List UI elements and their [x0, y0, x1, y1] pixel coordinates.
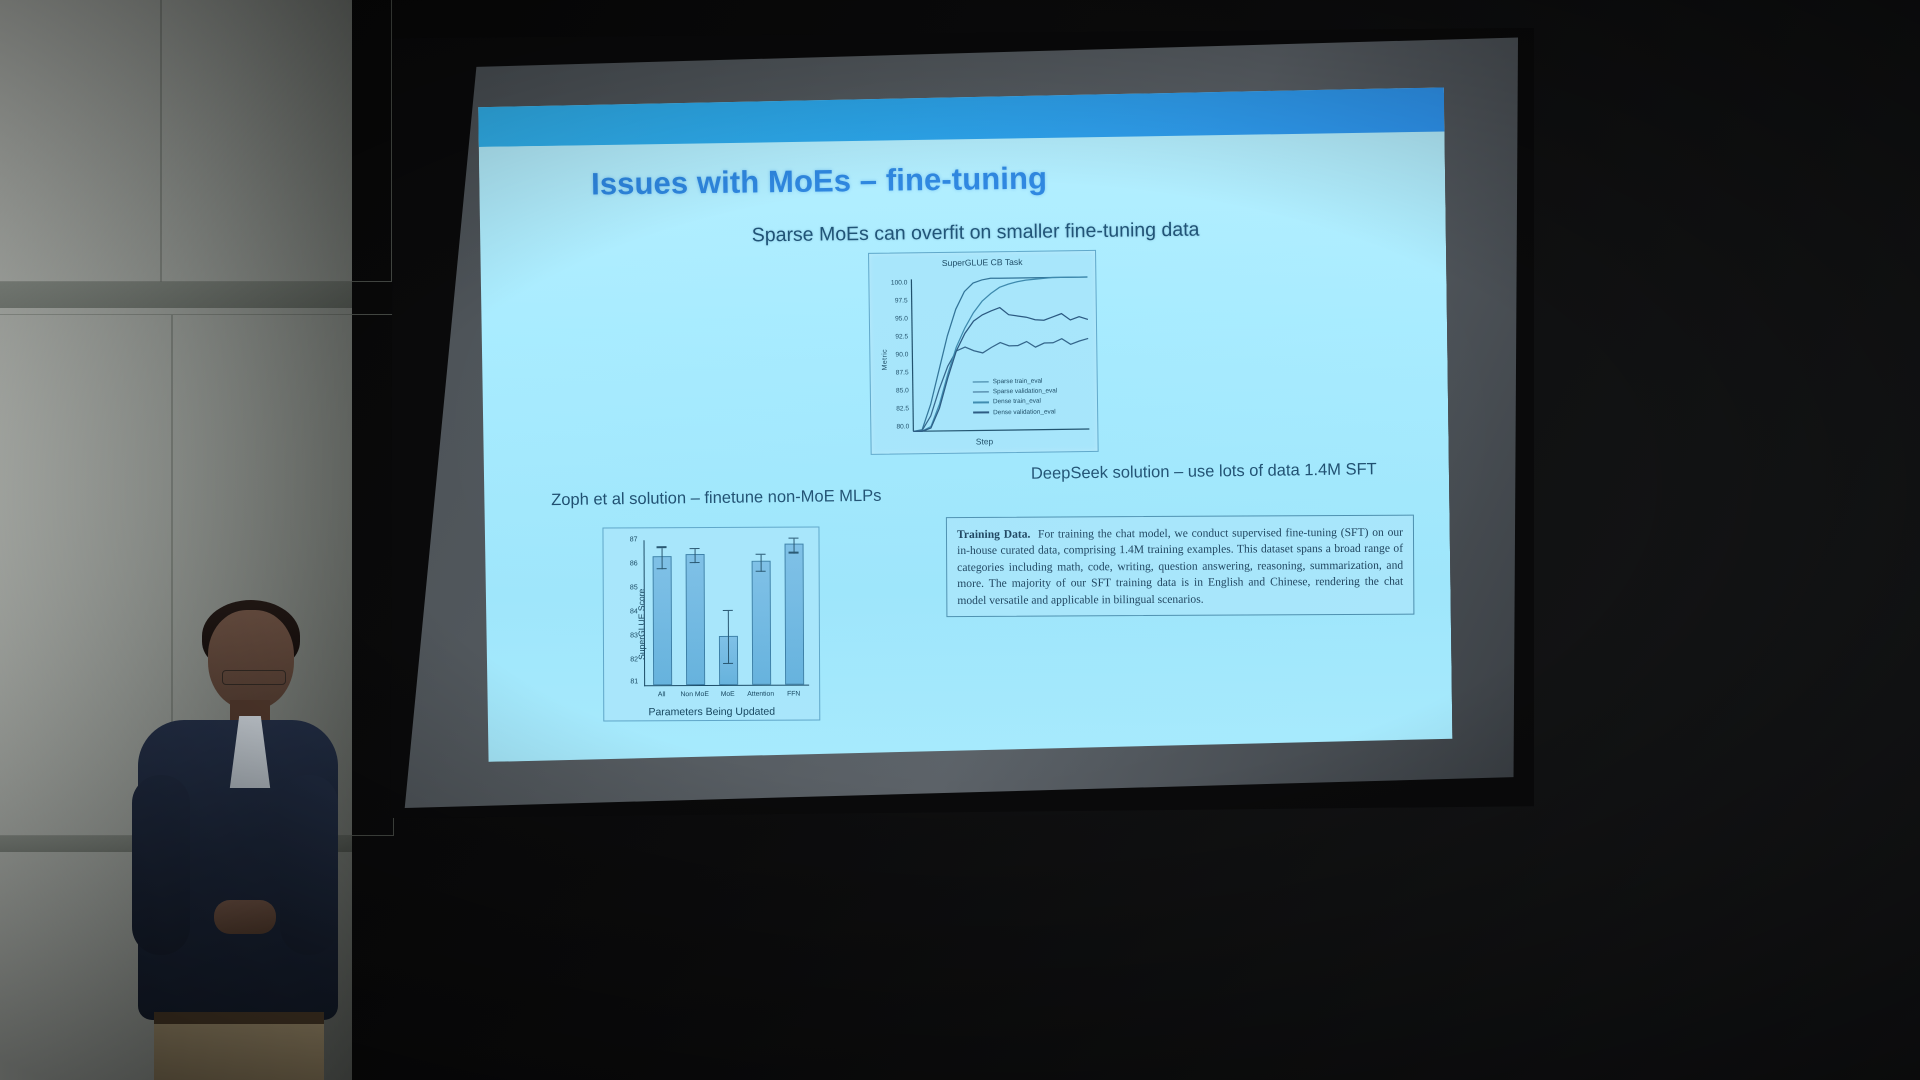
bar-ytick-83: 83	[616, 632, 638, 639]
presenter-head	[208, 610, 294, 710]
bar-chart-plot-area: AllNon MoEMoEAttentionFFN	[644, 540, 810, 687]
slide-subtitle: Sparse MoEs can overfit on smaller fine-…	[752, 219, 1200, 248]
presenter	[130, 600, 345, 1080]
error-bar-2	[727, 611, 728, 665]
line-ytick-82_5: 82.5	[883, 405, 909, 412]
bar-attention	[752, 561, 772, 685]
bar-chart-figure: SuperGLUE Score Parameters Being Updated…	[602, 527, 820, 722]
bar-xtick-4: FFN	[774, 691, 814, 698]
bar-ytick-85: 85	[616, 584, 638, 591]
line-ytick-97_5: 97.5	[882, 297, 908, 304]
bar-ytick-82: 82	[616, 656, 638, 663]
error-bar-0	[661, 548, 662, 570]
caption-zoph-solution: Zoph et al solution – finetune non-MoE M…	[551, 487, 881, 510]
training-data-lead: Training Data.	[957, 528, 1031, 541]
presenter-pants	[154, 1024, 324, 1080]
legend-label-sparse-val: Sparse validation_eval	[993, 388, 1057, 396]
error-cap-3-0	[755, 570, 765, 571]
presenter-arm-left	[132, 775, 190, 955]
legend-label-dense-val: Dense validation_eval	[993, 408, 1056, 416]
line-ytick-87_5: 87.5	[883, 369, 909, 376]
legend-label-dense-train: Dense train_eval	[993, 398, 1041, 406]
error-bar-3	[760, 555, 761, 572]
line-chart-title: SuperGLUE CB Task	[869, 256, 1095, 269]
legend-item-sparse-train: Sparse train_eval	[973, 377, 1057, 385]
bar-ffn	[784, 544, 804, 685]
bar-ytick-86: 86	[616, 560, 638, 567]
legend-item-dense-val: Dense validation_eval	[973, 408, 1057, 416]
legend-item-dense-train: Dense train_eval	[973, 398, 1057, 406]
bar-all	[652, 557, 672, 686]
legend-swatch-sparse-train	[973, 381, 989, 383]
presenter-hands	[214, 900, 276, 934]
error-cap-0-0	[656, 568, 666, 569]
error-cap-4-0	[788, 552, 798, 553]
legend-swatch-dense-train	[973, 401, 989, 403]
line-chart-plot-area: Metric Step 100.0 97.5 95.0 92.5 90.0 87…	[875, 269, 1091, 448]
training-data-box: Training Data. For training the chat mod…	[946, 515, 1415, 617]
line-ytick-90: 90.0	[882, 351, 908, 358]
presentation-slide: Issues with MoEs – fine-tuning Sparse Mo…	[478, 87, 1453, 762]
caption-deepseek-solution: DeepSeek solution – use lots of data 1.4…	[1031, 460, 1377, 484]
error-cap-0-1	[656, 547, 666, 548]
bar-ytick-84: 84	[616, 608, 638, 615]
presenter-glasses	[222, 670, 286, 685]
error-cap-4-1	[788, 537, 798, 538]
legend-label-sparse-train: Sparse train_eval	[993, 378, 1043, 386]
error-cap-1-0	[689, 562, 699, 563]
error-cap-3-1	[755, 553, 765, 554]
line-chart-legend: Sparse train_eval Sparse validation_eval…	[973, 377, 1058, 419]
screenshot-stage: Issues with MoEs – fine-tuning Sparse Mo…	[0, 0, 1920, 1080]
legend-swatch-sparse-val	[973, 391, 989, 393]
bar-chart-xlabel: Parameters Being Updated	[604, 706, 819, 719]
legend-swatch-dense-val	[973, 412, 989, 414]
line-ytick-95: 95.0	[882, 315, 908, 322]
bar-ytick-81: 81	[616, 678, 638, 685]
presenter-arm-right	[280, 775, 338, 955]
bar-ytick-87: 87	[615, 536, 637, 543]
line-ytick-85: 85.0	[883, 387, 909, 394]
bar-non-moe	[685, 554, 705, 685]
line-ytick-92_5: 92.5	[882, 333, 908, 340]
error-cap-2-1	[722, 610, 732, 611]
line-chart-figure: SuperGLUE CB Task Metric Step 100.0 97.5…	[868, 250, 1099, 455]
line-ytick-80: 80.0	[883, 423, 909, 430]
error-cap-2-0	[723, 663, 733, 664]
slide-title: Issues with MoEs – fine-tuning	[591, 161, 1047, 203]
error-cap-1-1	[689, 548, 699, 549]
legend-item-sparse-val: Sparse validation_eval	[973, 388, 1057, 396]
line-ytick-100: 100.0	[881, 279, 907, 286]
